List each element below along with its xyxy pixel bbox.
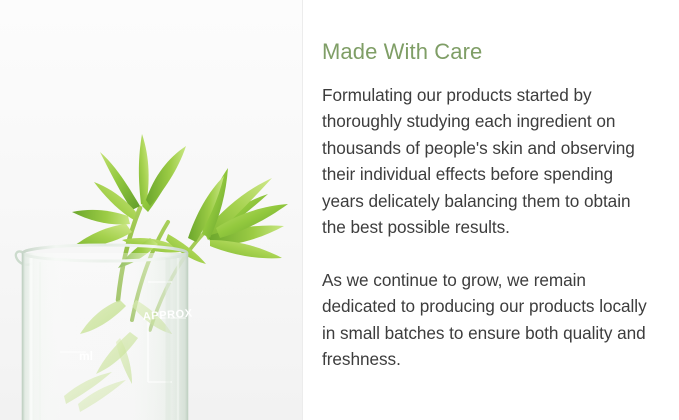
beaker-photo-panel: APPROX ml [0,0,303,420]
page-title: Made With Care [322,38,649,66]
panel-divider [302,0,303,420]
body-paragraph-2: As we continue to grow, we remain dedica… [322,267,649,373]
made-with-care-banner: APPROX ml Made With Care Formulating our… [0,0,679,420]
beaker-with-stevia-illustration: APPROX ml [0,0,303,420]
glass-beaker [16,245,187,420]
copy-panel: Made With Care Formulating our products … [303,0,679,420]
body-paragraph-1: Formulating our products started by thor… [322,82,649,241]
beaker-marking-ml: ml [79,349,93,363]
